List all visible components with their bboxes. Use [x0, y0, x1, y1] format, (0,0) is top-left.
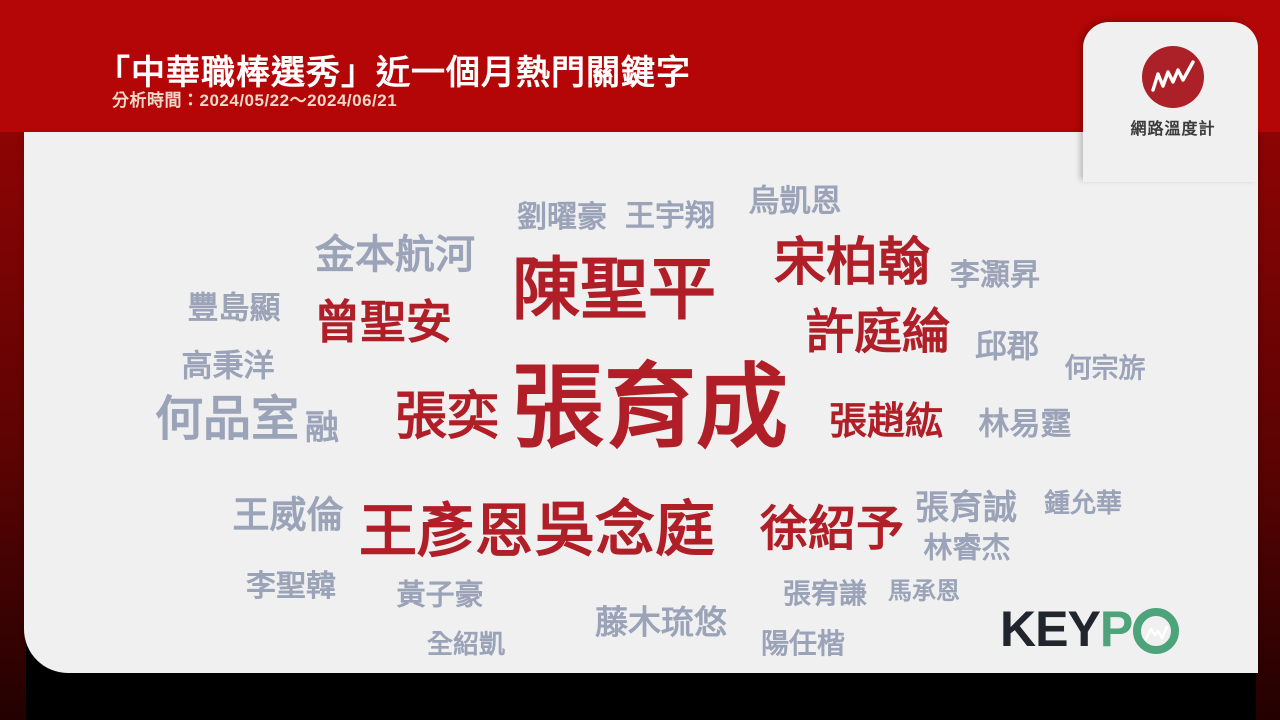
cloud-word[interactable]: 何宗旂: [1065, 356, 1146, 383]
analysis-period-label: 分析時間：2024/05/22～2024/06/21: [112, 86, 397, 111]
cloud-word[interactable]: 徐紹予: [760, 506, 904, 554]
cloud-word[interactable]: 張趙紘: [829, 403, 943, 441]
cloud-word[interactable]: 黃子豪: [396, 582, 483, 611]
cloud-word[interactable]: 劉曜豪: [517, 203, 607, 233]
word-cloud: 張育成陳聖平吳念庭王彥恩宋柏翰許庭綸徐紹予曾聖安張奕張趙紘何品室融金本航河劉曜豪…: [24, 132, 1258, 673]
cloud-word[interactable]: 陳聖平: [512, 256, 716, 324]
right-rail: [1256, 132, 1280, 720]
cloud-word[interactable]: 王宇翔: [625, 202, 715, 232]
cloud-word[interactable]: 吳念庭: [535, 500, 715, 560]
brand-block: 網路溫度計: [1093, 46, 1253, 139]
cloud-word[interactable]: 許庭綸: [806, 309, 950, 357]
cloud-word[interactable]: 豐島顯: [188, 293, 281, 324]
cloud-word[interactable]: 烏凱恩: [749, 186, 842, 217]
cloud-word[interactable]: 張育誠: [915, 491, 1017, 525]
cloud-word[interactable]: 全紹凱: [427, 631, 505, 657]
keypo-text-key: KEY: [1000, 600, 1100, 658]
left-rail: [0, 132, 26, 720]
keypo-text-p: P: [1100, 600, 1132, 658]
cloud-word[interactable]: 張奕: [395, 391, 499, 443]
cloud-word[interactable]: 融: [305, 411, 339, 445]
cloud-word[interactable]: 林易霆: [979, 409, 1072, 440]
cloud-word[interactable]: 曾聖安: [314, 299, 452, 345]
cloud-word[interactable]: 何品室: [155, 396, 299, 444]
cloud-word[interactable]: 張宥謙: [783, 580, 867, 608]
cloud-word[interactable]: 宋柏翰: [774, 237, 930, 289]
cloud-word[interactable]: 陽任楷: [761, 630, 845, 658]
cloud-word[interactable]: 鍾允華: [1044, 490, 1122, 516]
cloud-word[interactable]: 王彥恩: [359, 503, 533, 561]
cloud-word[interactable]: 藤木琉悠: [595, 606, 727, 639]
line-chart-icon: [1142, 46, 1204, 108]
cloud-word[interactable]: 馬承恩: [888, 580, 960, 604]
cloud-word[interactable]: 邱郡: [975, 330, 1039, 362]
cloud-word[interactable]: 林睿杰: [923, 535, 1010, 564]
cloud-word[interactable]: 李灝昇: [950, 261, 1040, 291]
keypo-logo: KEY P: [1000, 600, 1179, 658]
brand-name: 網路溫度計: [1093, 115, 1253, 139]
mountain-chart-icon: [1133, 608, 1179, 654]
cloud-word[interactable]: 王威倫: [233, 497, 344, 534]
cloud-word[interactable]: 高秉洋: [182, 351, 275, 382]
cloud-word[interactable]: 金本航河: [315, 235, 475, 275]
cloud-word[interactable]: 李聖韓: [246, 572, 336, 602]
cloud-word[interactable]: 張育成: [512, 362, 788, 454]
